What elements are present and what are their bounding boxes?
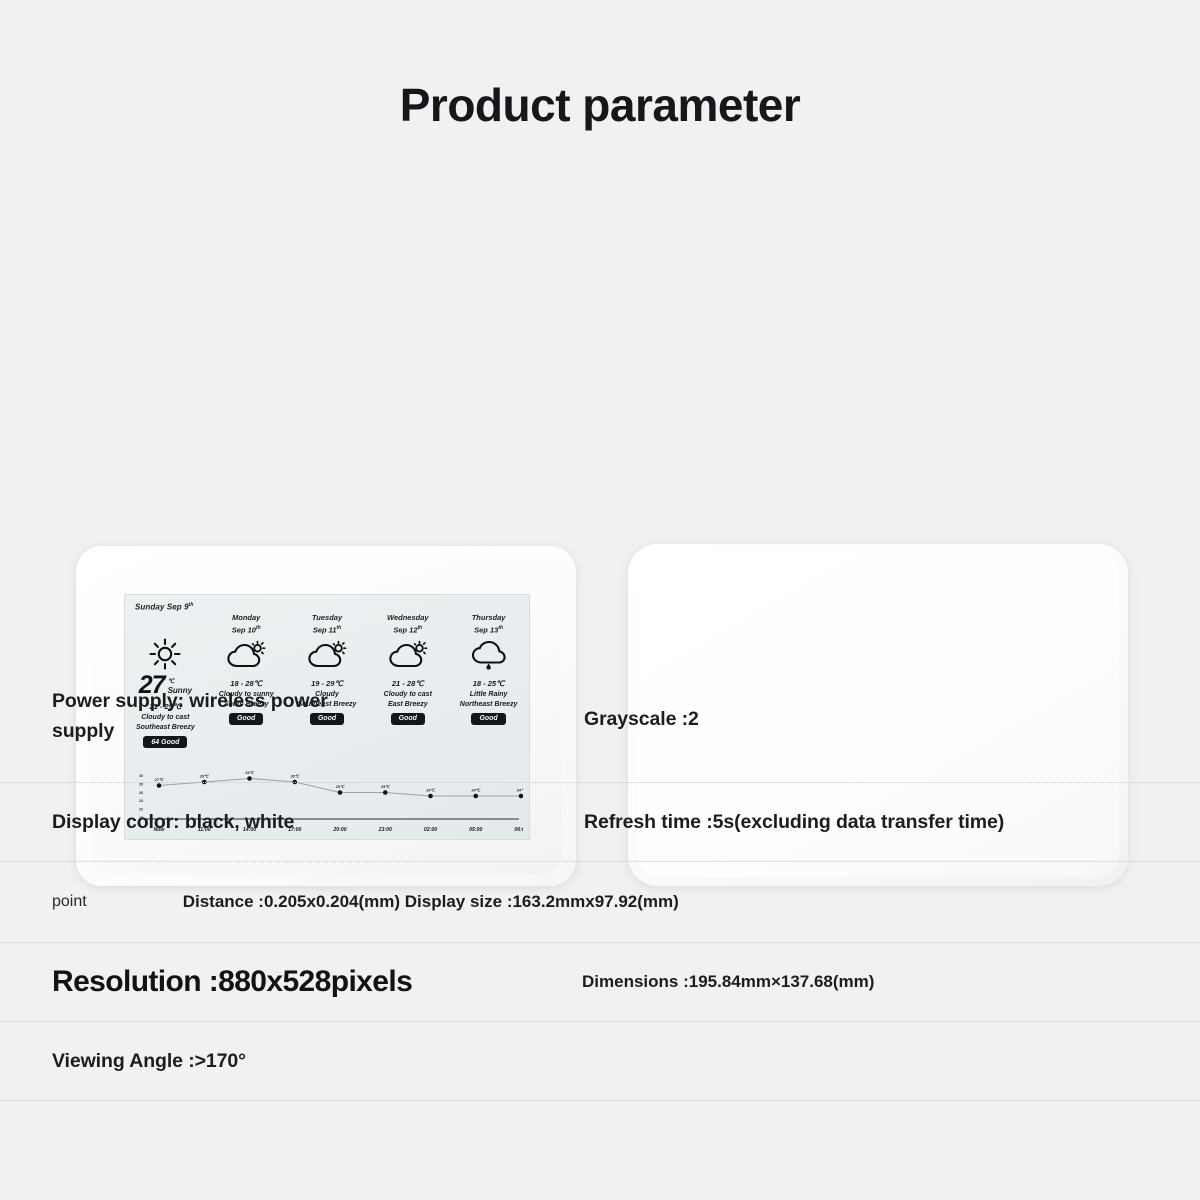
spec-table: Power supply: wireless power supply Gray… [0,672,1200,1101]
spec-dimensions: Dimensions :195.84mm×137.68(mm) [582,972,874,992]
cloud-rain-icon [469,636,509,674]
forecast-day-name: Thursday [472,613,506,623]
cloud-sun-icon [307,636,347,674]
forecast-date-suffix: th [418,625,423,631]
spec-display-color: Display color: black, white [52,811,294,834]
spec-point-label: point [52,893,87,911]
forecast-date-text: Sep 11 [313,626,337,635]
forecast-day-name: Tuesday [312,613,342,623]
page-title: Product parameter [0,0,1200,128]
spec-power-supply-line2: supply [52,716,584,746]
spec-row-display-color: Display color: black, white Refresh time… [0,783,1200,862]
cloud-sun-icon [388,636,428,674]
spec-power-supply-line1: Power supply: wireless power [52,686,584,716]
forecast-date-text: Sep 10 [232,626,256,635]
spec-distance-display-size: Distance :0.205x0.204(mm) Display size :… [183,892,679,912]
forecast-day-date: Sep 12th [393,623,422,636]
spec-resolution: Resolution :880x528pixels [52,965,412,999]
forecast-date-suffix: th [256,625,261,631]
forecast-day-date: Sep 13th [474,623,503,636]
spec-row-power-supply: Power supply: wireless power supply Gray… [0,672,1200,783]
spec-row-viewing-angle: Viewing Angle :>170° [0,1022,1200,1101]
cloud-sun-icon [226,636,266,674]
spec-refresh-time: Refresh time :5s(excluding data transfer… [584,811,1004,834]
forecast-day-date: Sep 11th [313,623,341,636]
forecast-day-name: Wednesday [387,613,429,623]
spec-viewing-angle: Viewing Angle :>170° [52,1050,246,1073]
today-date-suffix: th [189,602,194,608]
forecast-date-suffix: th [336,625,341,631]
forecast-date-text: Sep 13 [474,626,498,635]
sun-icon [148,637,182,671]
forecast-date-suffix: th [498,625,503,631]
spec-grayscale: Grayscale :2 [584,708,699,731]
forecast-day-date: Sep 10th [232,623,261,636]
spec-row-point-distance: point Distance :0.205x0.204(mm) Display … [0,862,1200,943]
forecast-day-name: Monday [232,613,260,623]
product-images: Sunday Sep 9th [0,268,1200,640]
spec-row-resolution: Resolution :880x528pixels Dimensions :19… [0,943,1200,1022]
forecast-date-text: Sep 12 [393,626,417,635]
